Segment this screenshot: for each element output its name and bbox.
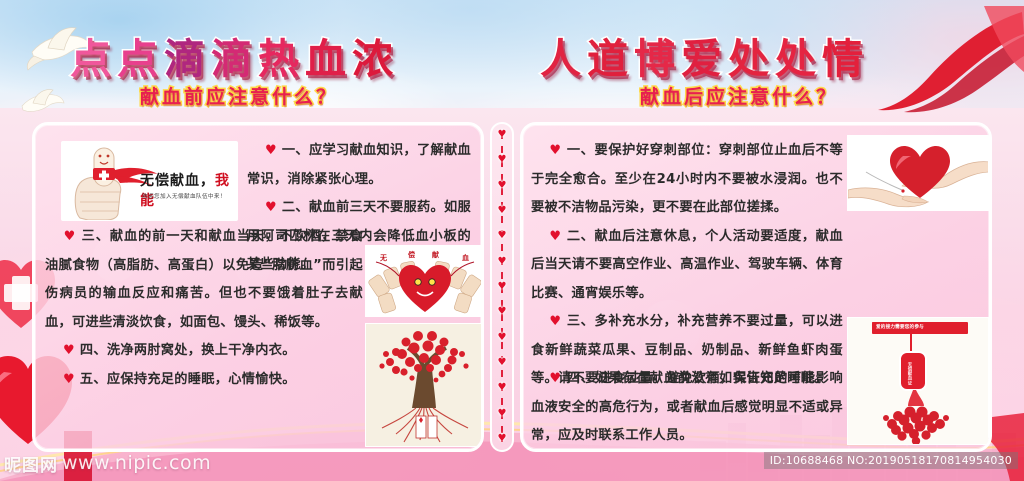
divider-heart-icon: ♥	[498, 231, 507, 241]
heart-bullet-icon: ♥	[549, 314, 562, 329]
heart-bullet-icon: ♥	[63, 229, 76, 244]
list-item: ♥ 一、应学习献血知识，了解献血常识，消除紧张心理。	[247, 137, 471, 194]
divider-heart-icon: ♥	[498, 307, 507, 317]
right-panel-text-lower: ♥ 四、如果存在献血前没有如实告知的可能影响血液安全的高危行为，或者献血后感觉明…	[531, 365, 843, 451]
main-title-right: 人道博爱处处情	[540, 25, 869, 85]
divider-heart-icon: ♥	[498, 257, 507, 267]
heart-bullet-icon: ♥	[63, 343, 75, 358]
heart-drop-poster: 爱的接力需要您的参与 无偿献血证	[847, 317, 989, 445]
right-panel-text: ♥ 一、要保护好穿刺部位：穿刺部位止血后不等于完全愈合。至少在24小时内不要被水…	[531, 137, 843, 308]
list-item: ♥ 二、献血后注意休息，个人活动要适度，献血后当天请不要高空作业、高温作业、驾驶…	[531, 223, 843, 309]
list-item: ♥ 三、献血的前一天和献血当天，不饮酒，禁食油腻食物（高脂肪、高蛋白）以免造“脂…	[45, 223, 363, 337]
site-watermark: 昵图网 www.nipic.com	[4, 449, 211, 477]
subtitle-right: 献血后应注意什么？	[640, 82, 838, 109]
left-panel-text-lower: ♥ 三、献血的前一天和献血当天，不饮酒，禁食油腻食物（高脂肪、高蛋白）以免造“脂…	[45, 223, 363, 394]
list-item: ♥ 四、洗净两肘窝处，换上干净内衣。	[45, 337, 363, 366]
main-title-left: 点点滴滴热血浓	[70, 25, 399, 85]
divider-heart-icon: ♥	[498, 409, 507, 419]
site-watermark-cn: 昵图网	[4, 451, 58, 476]
poster-card-tag: 无偿献血证	[902, 360, 916, 387]
heart-bullet-icon: ♥	[265, 143, 277, 158]
divider-heart-icon: ♥	[498, 434, 507, 444]
poster-headings: 点点滴滴热血浓 人道博爱处处情 献血前应注意什么？ 献血后应注意什么？	[0, 0, 1024, 118]
logo-main-text: 无偿献血，我能	[140, 170, 237, 210]
poster-caption-banner: 爱的接力需要您的参与	[872, 322, 928, 332]
heart-tree-poster	[365, 323, 483, 447]
divider-heart-icon: ♥	[498, 333, 507, 343]
divider-heart-icon: ♥	[498, 130, 507, 140]
panel-after-donation: 爱的接力需要您的参与 无偿献血证 ♥ 一、要保护好穿刺部位：穿刺部位止血后不等于…	[520, 122, 992, 452]
divider-heart-icon: ♥	[498, 181, 507, 191]
list-item: ♥ 四、如果存在献血前没有如实告知的可能影响血液安全的高危行为，或者献血后感觉明…	[531, 365, 843, 451]
heart-bullet-icon: ♥	[549, 229, 562, 244]
logo-sub-text: 欢迎您加入无偿献血队伍中来！	[142, 192, 226, 200]
wuchang-xianxue-logo-card: 无偿献血，我能 欢迎您加入无偿献血队伍中来！	[61, 141, 238, 221]
divider-heart-icon: ♥	[498, 155, 507, 165]
list-item: ♥ 一、要保护好穿刺部位：穿刺部位止血后不等于完全愈合。至少在24小时内不要被水…	[531, 137, 843, 223]
hands-giving-heart-photo	[847, 135, 989, 211]
divider-heart-icon: ♥	[498, 206, 507, 216]
heart-bullet-icon: ♥	[549, 143, 562, 158]
divider-heart-icon: ♥	[498, 282, 507, 292]
site-watermark-url: www.nipic.com	[62, 452, 211, 474]
panel-before-donation: 无偿献血，我能 欢迎您加入无偿献血队伍中来！	[32, 122, 484, 452]
subtitle-left: 献血前应注意什么？	[140, 82, 338, 109]
heart-bullet-icon: ♥	[265, 200, 277, 215]
heart-bullet-icon: ♥	[549, 371, 562, 386]
image-id-watermark: ID:10688468 NO:20190518170814954030	[764, 452, 1018, 469]
divider-heart-icon: ♥	[498, 383, 507, 393]
heart-bullet-icon: ♥	[63, 372, 75, 387]
heart-divider: ♥ ♥ ♥ ♥ ♥ ♥ ♥ ♥ ♥ ♥ ♥ ♥ ♥	[490, 122, 514, 452]
divider-heart-icon: ♥	[498, 358, 507, 368]
poster-canvas: 点点滴滴热血浓 人道博爱处处情 献血前应注意什么？ 献血后应注意什么？	[0, 0, 1024, 481]
list-item: ♥ 五、应保持充足的睡眠，心情愉快。	[45, 366, 363, 395]
